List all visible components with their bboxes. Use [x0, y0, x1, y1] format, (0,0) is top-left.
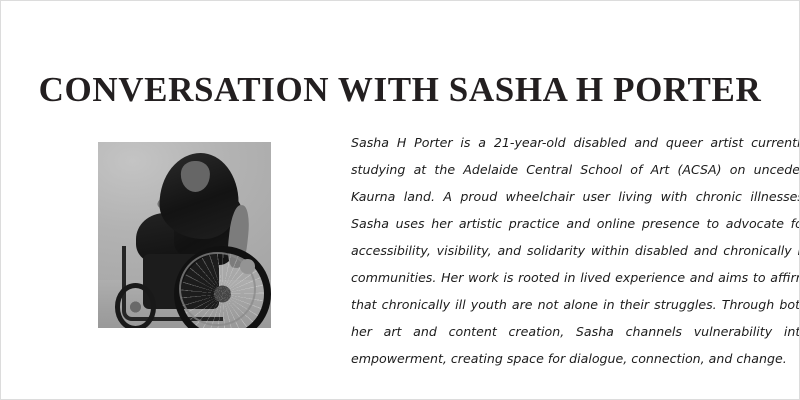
portrait-figure	[98, 142, 271, 328]
wheelchair-caster-wheel	[115, 283, 156, 328]
portrait-image	[98, 142, 271, 328]
article-content: Sasha H Porter is a 21-year-old disabled…	[58, 129, 744, 372]
bio-paragraph: Sasha H Porter is a 21-year-old disabled…	[351, 129, 800, 372]
page-title: CONVERSATION WITH SASHA H PORTER	[1, 70, 799, 110]
article-page: CONVERSATION WITH SASHA H PORTER Sasha H…	[0, 0, 800, 400]
bio-column: Sasha H Porter is a 21-year-old disabled…	[311, 129, 800, 372]
